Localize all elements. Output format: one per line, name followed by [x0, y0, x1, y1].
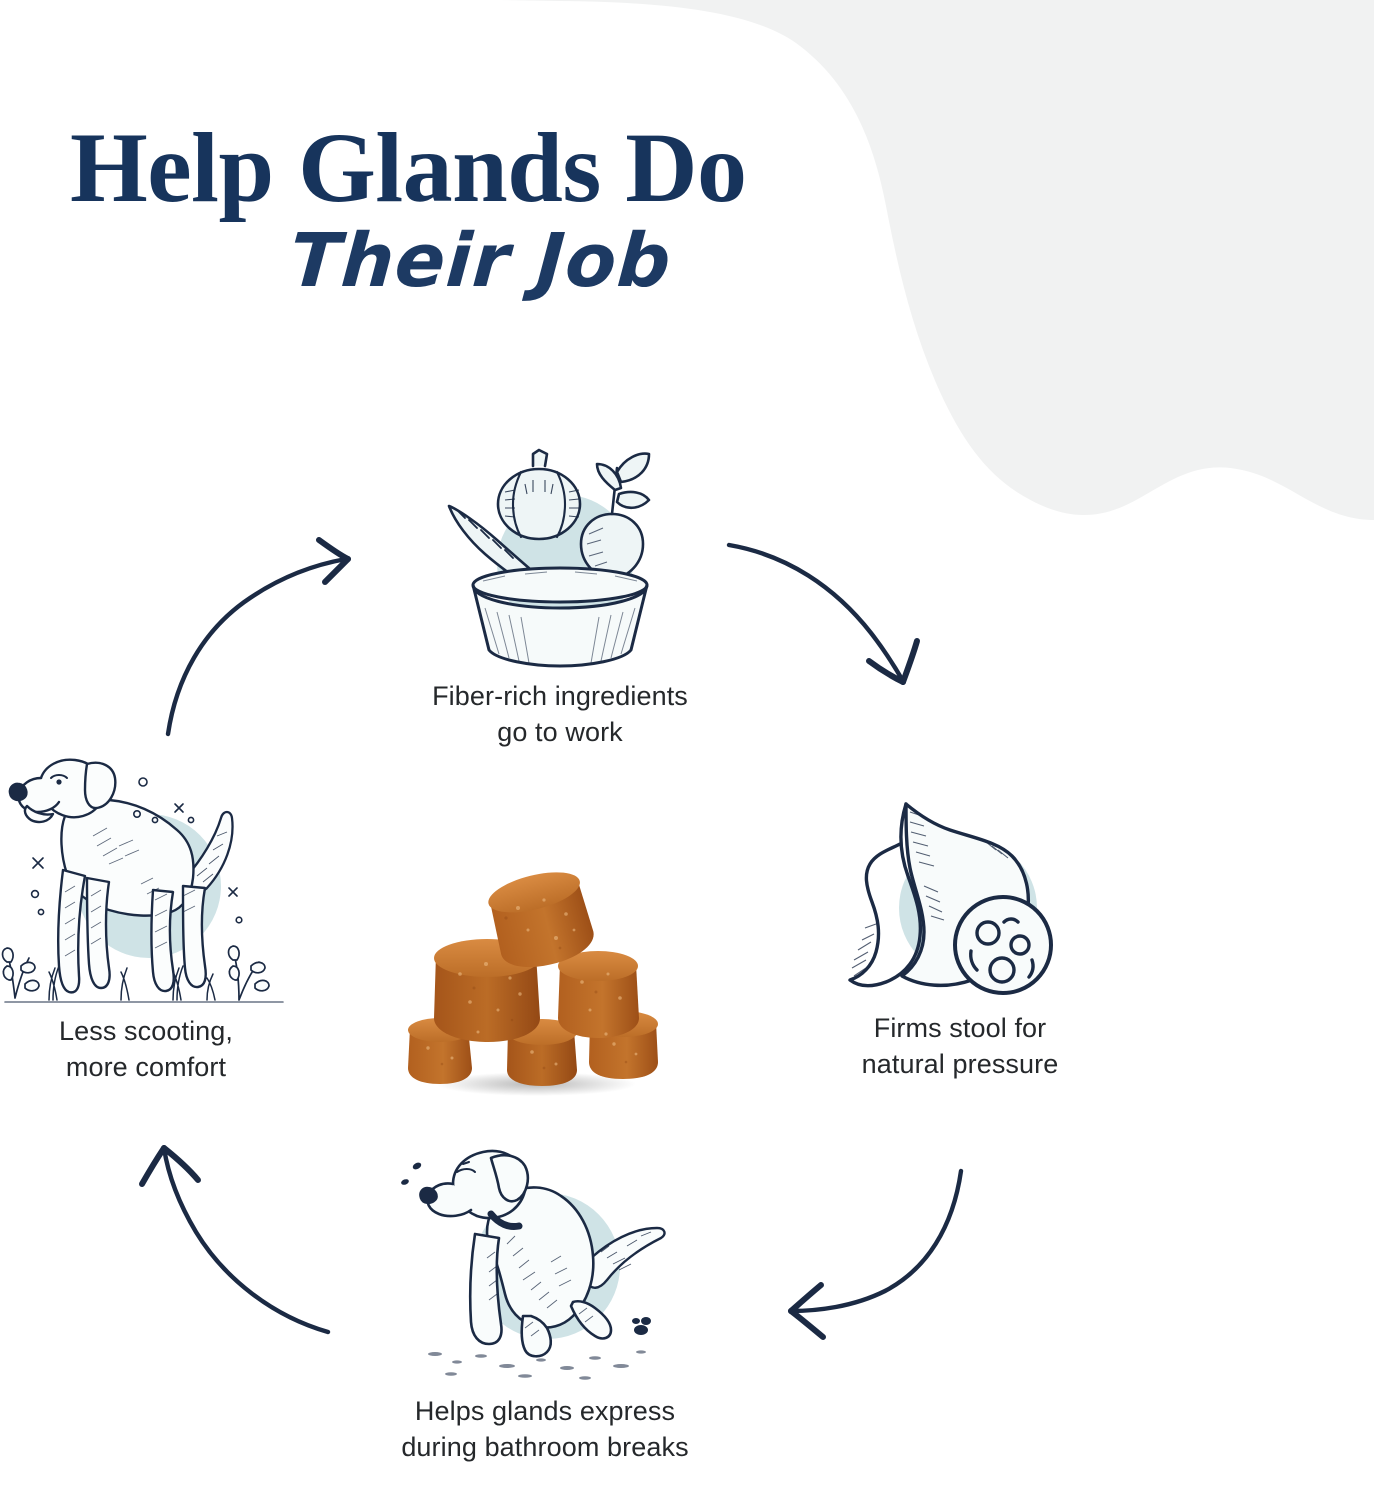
cycle-step-label: Fiber-rich ingredients go to work — [432, 679, 688, 750]
arrow-bottom-to-left — [100, 1130, 350, 1350]
cycle-step-helps-glands-express: Helps glands express during bathroom bre… — [330, 1138, 760, 1465]
cycle-step-less-scooting: Less scooting, more comfort — [0, 750, 292, 1085]
food-bowl-with-pumpkin-aloe-beet-icon — [435, 448, 685, 673]
headline-line-2: Their Job — [287, 224, 749, 298]
dog-squatting-bathroom-icon — [395, 1138, 695, 1388]
happy-standing-dog-icon — [1, 750, 291, 1008]
cycle-step-label: Less scooting, more comfort — [59, 1014, 233, 1085]
cycle-step-label: Helps glands express during bathroom bre… — [401, 1394, 688, 1465]
stomach-intestine-cross-section-icon — [840, 790, 1080, 1005]
headline-line-1: Help Glands Do — [70, 118, 747, 218]
arrow-right-to-bottom — [745, 1165, 995, 1365]
cycle-step-fiber-rich-ingredients: Fiber-rich ingredients go to work — [330, 448, 790, 750]
cycle-step-label: Firms stool for natural pressure — [862, 1011, 1059, 1082]
soft-chew-treats-stack — [368, 852, 698, 1102]
cycle-step-firms-stool: Firms stool for natural pressure — [795, 790, 1125, 1082]
infographic-canvas: Help Glands Do Their Job — [0, 0, 1374, 1500]
headline-block: Help Glands Do Their Job — [70, 118, 747, 298]
